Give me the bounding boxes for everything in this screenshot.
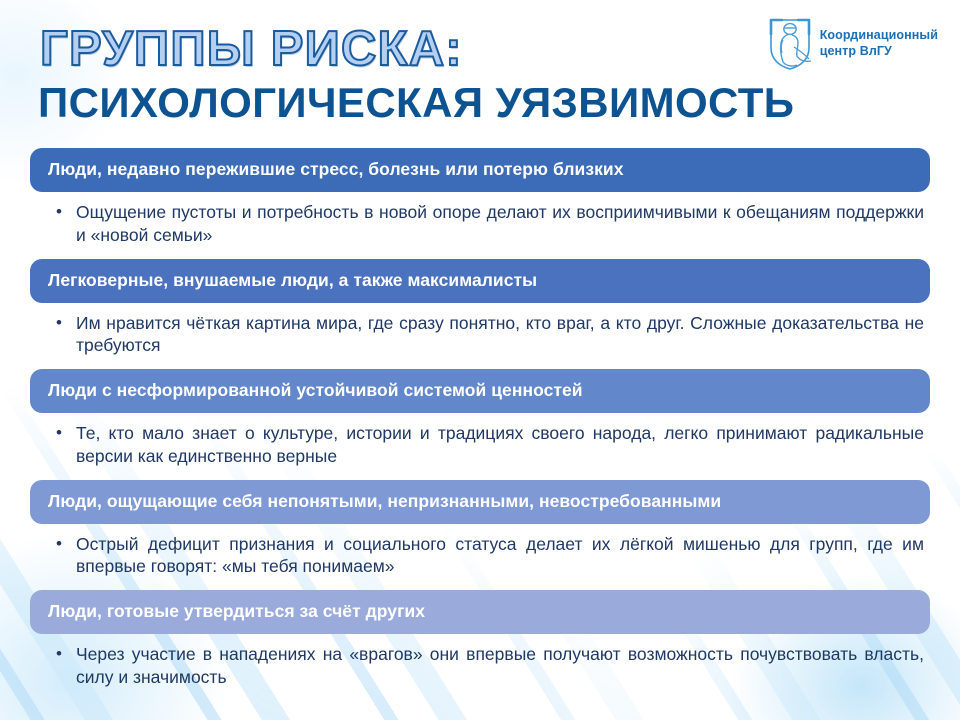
risk-group-block: Люди с несформированной устойчивой систе…: [0, 369, 960, 468]
bullet-marker-icon: •: [56, 533, 72, 579]
page-title-secondary: ПСИХОЛОГИЧЕСКАЯ УЯЗВИМОСТЬ: [38, 82, 794, 124]
organization-logo: Координационный центр ВлГУ: [767, 14, 938, 72]
risk-group-heading-text: Легковерные, внушаемые люди, а также мак…: [48, 270, 537, 290]
logo-text: Координационный центр ВлГУ: [820, 27, 938, 60]
risk-group-bullet-text: Острый дефицит признания и социального с…: [76, 533, 924, 579]
risk-group-bullet-text: Те, кто мало знает о культуре, истории и…: [76, 422, 924, 468]
shield-figure-icon: [767, 14, 813, 72]
logo-text-line2: центр ВлГУ: [820, 44, 892, 58]
slide-header: ГРУППЫ РИСКА: ПСИХОЛОГИЧЕСКАЯ УЯЗВИМОСТЬ…: [0, 0, 960, 148]
risk-group-heading-text: Люди, недавно пережившие стресс, болезнь…: [48, 159, 624, 179]
risk-group-list: Люди, недавно пережившие стресс, болезнь…: [0, 148, 960, 701]
risk-group-heading-text: Люди с несформированной устойчивой систе…: [48, 380, 583, 400]
bullet-marker-icon: •: [56, 643, 72, 689]
risk-group-block: Люди, недавно пережившие стресс, болезнь…: [0, 148, 960, 247]
risk-group-heading-bar[interactable]: Люди, готовые утвердиться за счёт других: [30, 590, 930, 634]
risk-group-bullet: • Ощущение пустоты и потребность в новой…: [58, 201, 924, 247]
slide-canvas: ГРУППЫ РИСКА: ПСИХОЛОГИЧЕСКАЯ УЯЗВИМОСТЬ…: [0, 0, 960, 720]
risk-group-bullet-text: Через участие в нападениях на «врагов» о…: [76, 643, 924, 689]
risk-group-bullet: • Через участие в нападениях на «врагов»…: [58, 643, 924, 689]
risk-group-bullet-text: Им нравится чёткая картина мира, где сра…: [76, 312, 924, 358]
risk-group-heading-bar[interactable]: Люди с несформированной устойчивой систе…: [30, 369, 930, 413]
risk-group-block: Люди, готовые утвердиться за счёт других…: [0, 590, 960, 689]
risk-group-bullet: • Им нравится чёткая картина мира, где с…: [58, 312, 924, 358]
risk-group-heading-bar[interactable]: Люди, ощущающие себя непонятыми, непризн…: [30, 480, 930, 524]
bullet-marker-icon: •: [56, 422, 72, 468]
risk-group-bullet-text: Ощущение пустоты и потребность в новой о…: [76, 201, 924, 247]
risk-group-block: Легковерные, внушаемые люди, а также мак…: [0, 259, 960, 358]
risk-group-heading-bar[interactable]: Люди, недавно пережившие стресс, болезнь…: [30, 148, 930, 192]
bullet-marker-icon: •: [56, 312, 72, 358]
bullet-marker-icon: •: [56, 201, 72, 247]
risk-group-heading-text: Люди, ощущающие себя непонятыми, непризн…: [48, 491, 721, 511]
risk-group-bullet: • Острый дефицит признания и социального…: [58, 533, 924, 579]
logo-text-line1: Координационный: [820, 28, 938, 42]
risk-group-heading-bar[interactable]: Легковерные, внушаемые люди, а также мак…: [30, 259, 930, 303]
page-title-primary: ГРУППЫ РИСКА:: [40, 25, 463, 74]
risk-group-block: Люди, ощущающие себя непонятыми, непризн…: [0, 480, 960, 579]
risk-group-bullet: • Те, кто мало знает о культуре, истории…: [58, 422, 924, 468]
risk-group-heading-text: Люди, готовые утвердиться за счёт других: [48, 601, 425, 621]
